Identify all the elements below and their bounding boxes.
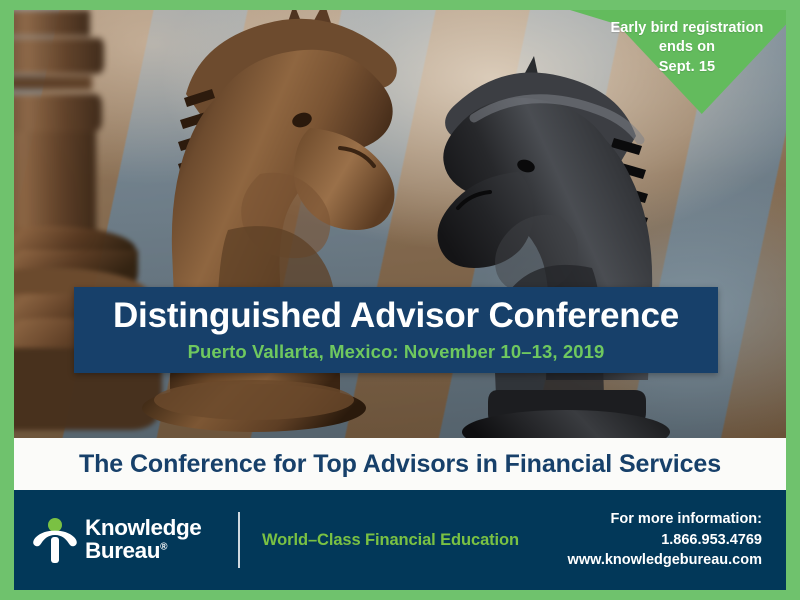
conference-poster: Early bird registration ends on Sept. 15… — [0, 0, 800, 600]
contact-website[interactable]: www.knowledgebureau.com — [568, 550, 762, 571]
poster-inner-frame: Early bird registration ends on Sept. 15… — [14, 10, 786, 590]
early-bird-line-2: ends on — [594, 38, 780, 57]
logo-word-line-1: Knowledge — [85, 517, 201, 540]
footer: Knowledge Bureau® World–Class Financial … — [14, 490, 786, 590]
knowledge-bureau-logo[interactable]: Knowledge Bureau® — [14, 516, 232, 564]
tagline-bar: The Conference for Top Advisors in Finan… — [14, 438, 786, 490]
event-location-dates: Puerto Vallarta, Mexico: November 10–13,… — [74, 335, 718, 363]
contact-phone[interactable]: 1.866.953.4769 — [568, 530, 762, 551]
logo-word-line-2: Bureau® — [85, 540, 201, 563]
contact-heading: For more information: — [568, 509, 762, 530]
tagline-text: The Conference for Top Advisors in Finan… — [79, 450, 721, 479]
person-figure-icon — [32, 516, 78, 564]
early-bird-line-3: Sept. 15 — [594, 58, 780, 77]
event-title-block: Distinguished Advisor Conference Puerto … — [74, 287, 718, 373]
company-tagline: World–Class Financial Education — [262, 531, 519, 550]
logo-word-bureau: Bureau — [85, 538, 160, 563]
early-bird-line-1: Early bird registration — [594, 19, 780, 38]
footer-divider — [238, 512, 240, 568]
early-bird-text: Early bird registration ends on Sept. 15 — [594, 19, 780, 77]
chess-photo: Early bird registration ends on Sept. 15… — [14, 10, 786, 438]
logo-wordmark: Knowledge Bureau® — [85, 517, 201, 563]
registered-trademark-icon: ® — [160, 542, 167, 553]
contact-info: For more information: 1.866.953.4769 www… — [568, 509, 786, 571]
event-title: Distinguished Advisor Conference — [74, 287, 718, 335]
